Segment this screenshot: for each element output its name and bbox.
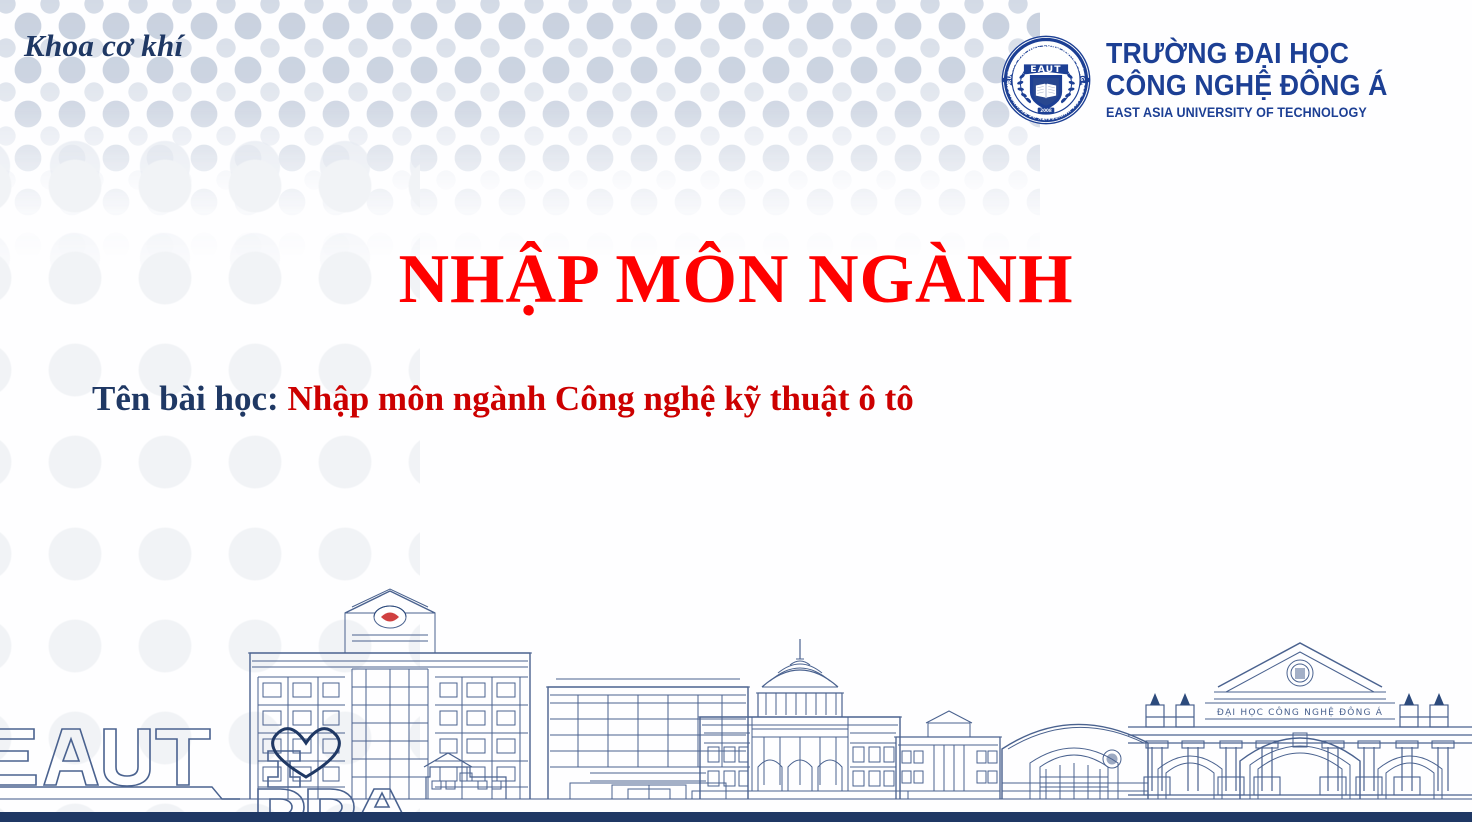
university-logo: TRƯỜNG ĐẠI HỌC CÔNG NGHỆ ĐÔNG Á EAST ASI… [1000, 34, 1412, 126]
footer-bar [0, 812, 1472, 822]
svg-text:2008: 2008 [1040, 108, 1052, 113]
university-logo-text: TRƯỜNG ĐẠI HỌC CÔNG NGHỆ ĐÔNG Á EAST ASI… [1106, 40, 1412, 120]
logo-line-3: EAST ASIA UNIVERSITY OF TECHNOLOGY [1106, 106, 1391, 120]
logo-line-1: TRƯỜNG ĐẠI HỌC [1106, 40, 1388, 69]
skyline-house-small [424, 753, 506, 799]
skyline-arena-hall [1002, 724, 1148, 799]
skyline-letters-eaut [0, 729, 210, 786]
svg-text:EAUT: EAUT [1030, 64, 1061, 75]
campus-skyline-illustration: ĐẠI HỌC CÔNG NGHỆ ĐÔNG Á [0, 577, 1472, 812]
logo-line-2: CÔNG NGHỆ ĐÔNG Á [1106, 72, 1388, 101]
university-seal-icon: TRƯỜNG ĐẠI HỌC CÔNG NGHỆ ĐÔNG Á EAST ASI… [1000, 34, 1092, 126]
lesson-subtitle-value: Nhập môn ngành Công nghệ kỹ thuật ô tô [287, 379, 913, 418]
presentation-slide: Khoa cơ khí TRƯỜNG ĐẠI HỌC CÔNG NGHỆ ĐÔN… [0, 0, 1472, 822]
page-title: NHẬP MÔN NGÀNH [0, 243, 1472, 317]
faculty-label: Khoa cơ khí [24, 28, 183, 64]
skyline-grand-arch: ĐẠI HỌC CÔNG NGHỆ ĐÔNG Á [1128, 643, 1472, 799]
lesson-subtitle: Tên bài học: Nhập môn ngành Công nghệ kỹ… [92, 378, 914, 420]
skyline-classical-facade [894, 711, 1002, 799]
lesson-subtitle-label: Tên bài học: [92, 379, 287, 418]
arch-inscription: ĐẠI HỌC CÔNG NGHỆ ĐÔNG Á [1217, 706, 1383, 718]
